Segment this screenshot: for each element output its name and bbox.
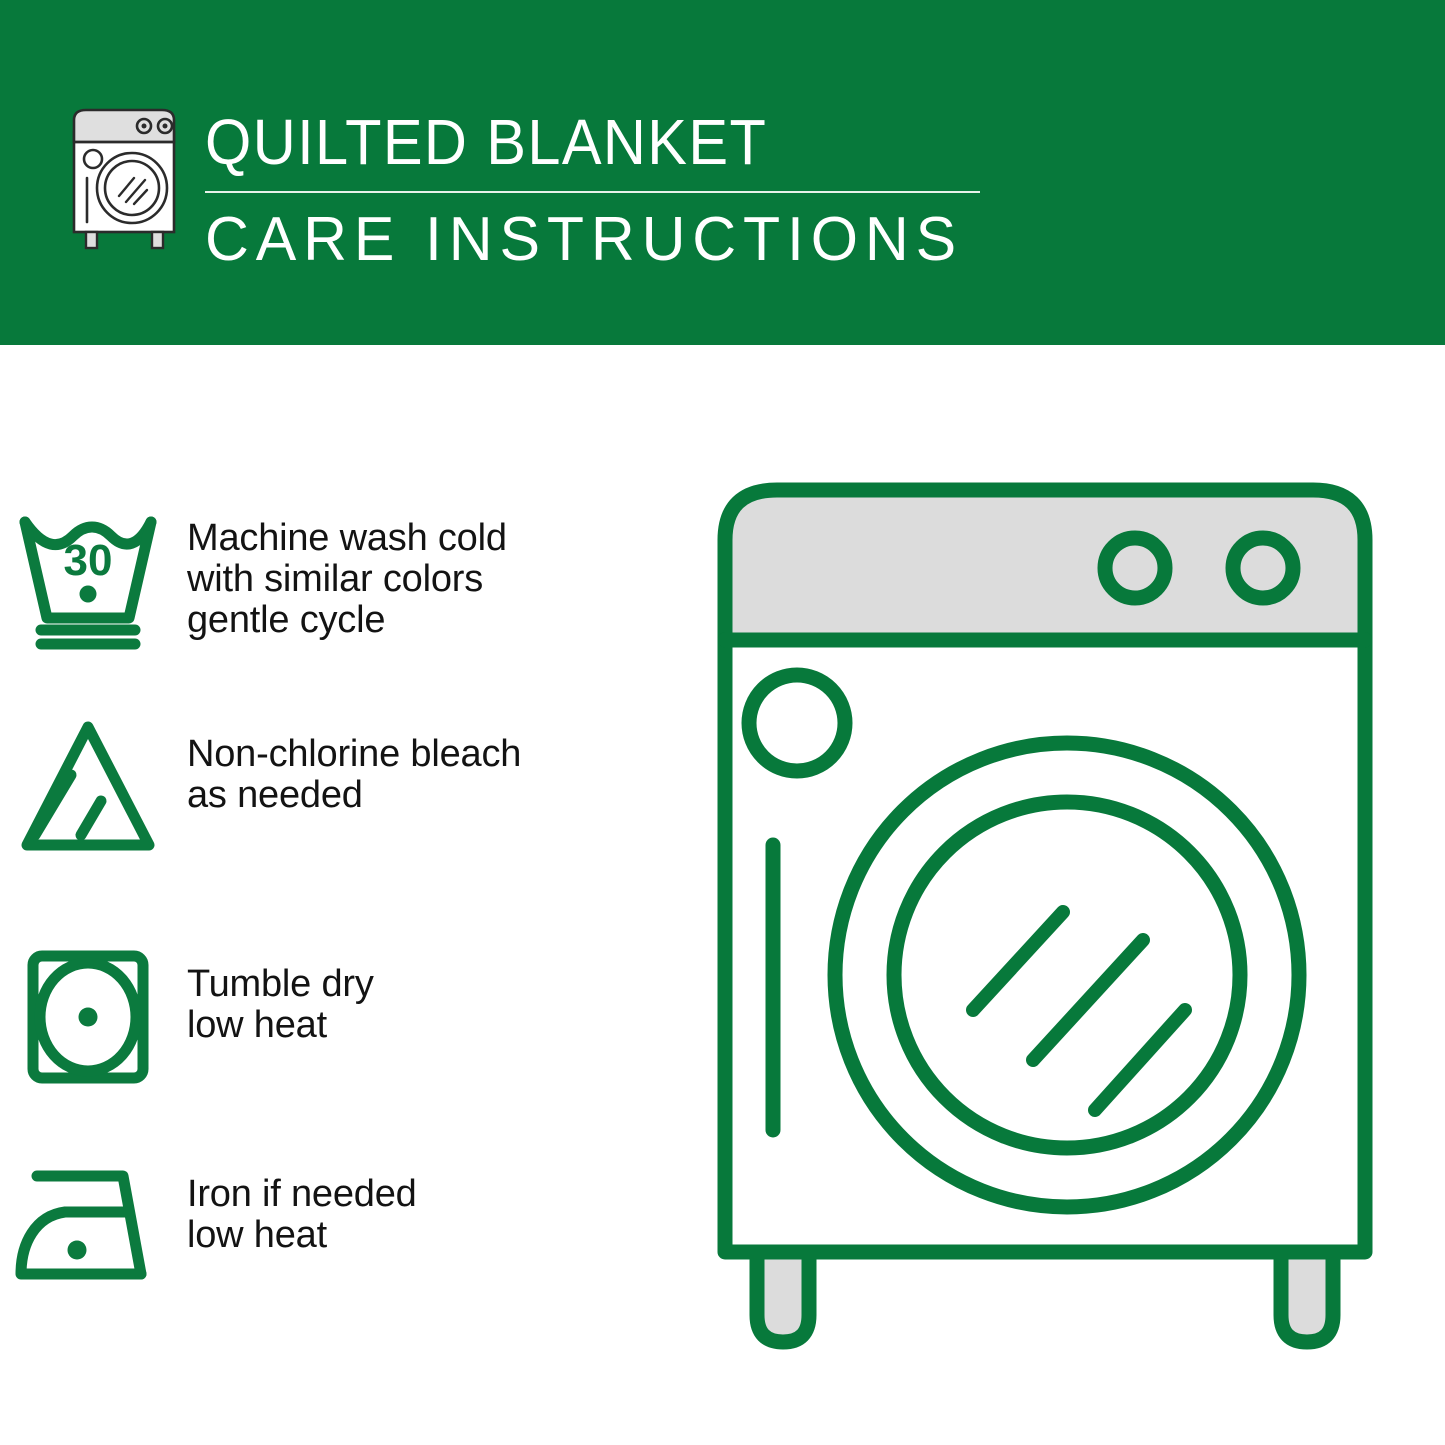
non-chlorine-bleach-triangle-icon xyxy=(0,713,175,863)
iron-low-heat-icon xyxy=(0,1150,175,1300)
care-instructions-page: QUILTED BLANKET CARE INSTRUCTIONS xyxy=(0,0,1445,1445)
care-row-iron: Iron if needed low heat xyxy=(0,1150,700,1300)
tumble-dry-low-icon xyxy=(0,942,175,1092)
care-line: as needed xyxy=(187,775,700,816)
machine-drum-inner xyxy=(894,802,1240,1148)
care-row-tumble-dry: Tumble dry low heat xyxy=(0,942,700,1092)
washing-machine-icon xyxy=(62,102,194,254)
care-text-bleach: Non-chlorine bleach as needed xyxy=(175,713,700,816)
care-line: gentle cycle xyxy=(187,600,700,641)
machine-knob-left xyxy=(1105,538,1165,598)
page-title: QUILTED BLANKET xyxy=(205,104,926,180)
front-load-washing-machine-illustration xyxy=(715,470,1405,1370)
care-line: Machine wash cold xyxy=(187,518,700,559)
care-text-tumble-dry: Tumble dry low heat xyxy=(175,942,700,1046)
machine-knob-right xyxy=(1233,538,1293,598)
care-line: low heat xyxy=(187,1005,700,1046)
care-line: low heat xyxy=(187,1215,700,1256)
care-instruction-list: 30 Machine wash cold with similar colors… xyxy=(0,345,700,1445)
care-text-iron: Iron if needed low heat xyxy=(175,1150,700,1256)
machine-dispenser-icon xyxy=(749,675,845,771)
wash-tub-30-gentle-icon: 30 xyxy=(0,500,175,650)
care-row-bleach: Non-chlorine bleach as needed xyxy=(0,713,700,863)
care-line: Tumble dry xyxy=(187,964,700,1005)
title-divider xyxy=(205,191,980,193)
care-text-machine-wash: Machine wash cold with similar colors ge… xyxy=(175,500,700,641)
header-band: QUILTED BLANKET CARE INSTRUCTIONS xyxy=(0,0,1445,345)
page-subtitle: CARE INSTRUCTIONS xyxy=(205,205,965,275)
header-title-block: QUILTED BLANKET CARE INSTRUCTIONS xyxy=(205,104,980,275)
care-line: with similar colors xyxy=(187,559,700,600)
care-line: Iron if needed xyxy=(187,1174,700,1215)
care-line: Non-chlorine bleach xyxy=(187,734,700,775)
wash-temp-label: 30 xyxy=(63,536,112,585)
care-row-machine-wash: 30 Machine wash cold with similar colors… xyxy=(0,500,700,650)
